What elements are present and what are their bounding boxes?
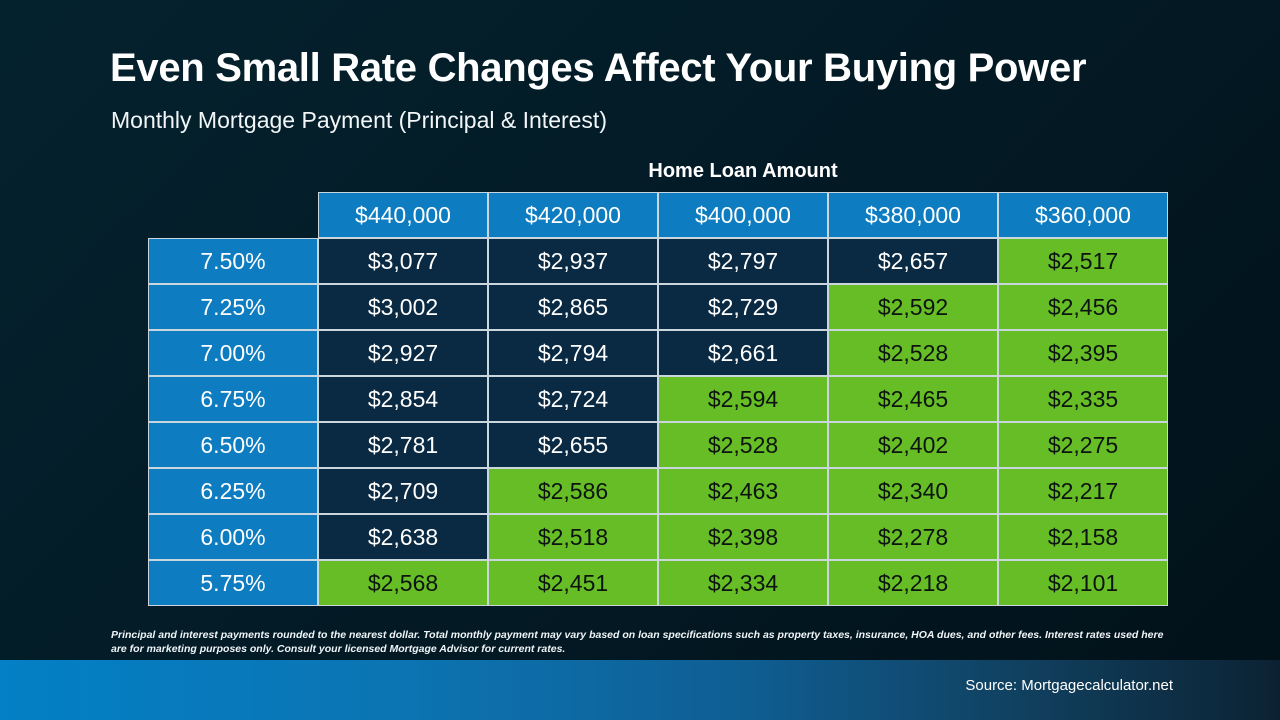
table-row: 7.00%$2,927$2,794$2,661$2,528$2,395 [148, 330, 1168, 376]
payment-cell: $2,661 [658, 330, 828, 376]
footnote-disclaimer: Principal and interest payments rounded … [111, 628, 1174, 656]
payment-cell: $2,395 [998, 330, 1168, 376]
payment-cell: $2,217 [998, 468, 1168, 514]
payment-cell: $2,451 [488, 560, 658, 606]
row-header: 6.25% [148, 468, 318, 514]
payment-cell: $2,528 [658, 422, 828, 468]
source-attribution: Source: Mortgagecalculator.net [965, 677, 1173, 694]
payment-cell: $3,002 [318, 284, 488, 330]
payment-cell: $2,592 [828, 284, 998, 330]
payment-cell: $2,781 [318, 422, 488, 468]
page-subtitle: Monthly Mortgage Payment (Principal & In… [111, 107, 607, 134]
payment-matrix-table: $440,000$420,000$400,000$380,000$360,000… [148, 192, 1168, 606]
column-header: $400,000 [658, 192, 828, 238]
column-header: $440,000 [318, 192, 488, 238]
payment-cell: $2,927 [318, 330, 488, 376]
payment-cell: $2,854 [318, 376, 488, 422]
row-header: 6.50% [148, 422, 318, 468]
bottom-band: Source: Mortgagecalculator.net [0, 660, 1280, 720]
payment-cell: $2,709 [318, 468, 488, 514]
row-header: 5.75% [148, 560, 318, 606]
payment-cell: $2,724 [488, 376, 658, 422]
table-row: 6.50%$2,781$2,655$2,528$2,402$2,275 [148, 422, 1168, 468]
payment-cell: $2,518 [488, 514, 658, 560]
payment-cell: $2,275 [998, 422, 1168, 468]
payment-cell: $2,937 [488, 238, 658, 284]
payment-cell: $2,657 [828, 238, 998, 284]
payment-cell: $2,865 [488, 284, 658, 330]
row-header: 7.00% [148, 330, 318, 376]
slide-canvas: Even Small Rate Changes Affect Your Buyi… [0, 0, 1280, 720]
table-row: 5.75%$2,568$2,451$2,334$2,218$2,101 [148, 560, 1168, 606]
table-row: 6.75%$2,854$2,724$2,594$2,465$2,335 [148, 376, 1168, 422]
row-header: 6.00% [148, 514, 318, 560]
table-row: 6.00%$2,638$2,518$2,398$2,278$2,158 [148, 514, 1168, 560]
payment-cell: $2,101 [998, 560, 1168, 606]
payment-cell: $2,517 [998, 238, 1168, 284]
payment-cell: $2,158 [998, 514, 1168, 560]
page-title: Even Small Rate Changes Affect Your Buyi… [110, 46, 1086, 91]
column-header: $380,000 [828, 192, 998, 238]
payment-cell: $2,655 [488, 422, 658, 468]
column-header: $360,000 [998, 192, 1168, 238]
payment-cell: $2,340 [828, 468, 998, 514]
payment-cell: $2,334 [658, 560, 828, 606]
payment-cell: $2,278 [828, 514, 998, 560]
column-header: $420,000 [488, 192, 658, 238]
payment-cell: $2,797 [658, 238, 828, 284]
payment-cell: $2,594 [658, 376, 828, 422]
payment-cell: $2,463 [658, 468, 828, 514]
table-row: 6.25%$2,709$2,586$2,463$2,340$2,217 [148, 468, 1168, 514]
table-corner-cell [148, 192, 318, 238]
table-row: 7.25%$3,002$2,865$2,729$2,592$2,456 [148, 284, 1168, 330]
payment-cell: $2,398 [658, 514, 828, 560]
row-header: 7.50% [148, 238, 318, 284]
table-header: $440,000$420,000$400,000$380,000$360,000 [148, 192, 1168, 238]
payment-cell: $2,528 [828, 330, 998, 376]
table-row: 7.50%$3,077$2,937$2,797$2,657$2,517 [148, 238, 1168, 284]
table-header-row: $440,000$420,000$400,000$380,000$360,000 [148, 192, 1168, 238]
table-body: 7.50%$3,077$2,937$2,797$2,657$2,5177.25%… [148, 238, 1168, 606]
payment-cell: $2,218 [828, 560, 998, 606]
payment-cell: $3,077 [318, 238, 488, 284]
payment-cell: $2,456 [998, 284, 1168, 330]
row-header: 6.75% [148, 376, 318, 422]
payment-cell: $2,794 [488, 330, 658, 376]
payment-cell: $2,586 [488, 468, 658, 514]
payment-cell: $2,729 [658, 284, 828, 330]
payment-cell: $2,638 [318, 514, 488, 560]
payment-cell: $2,402 [828, 422, 998, 468]
row-header: 7.25% [148, 284, 318, 330]
column-axis-label: Home Loan Amount [318, 160, 1168, 183]
payment-cell: $2,568 [318, 560, 488, 606]
payment-cell: $2,465 [828, 376, 998, 422]
payment-cell: $2,335 [998, 376, 1168, 422]
